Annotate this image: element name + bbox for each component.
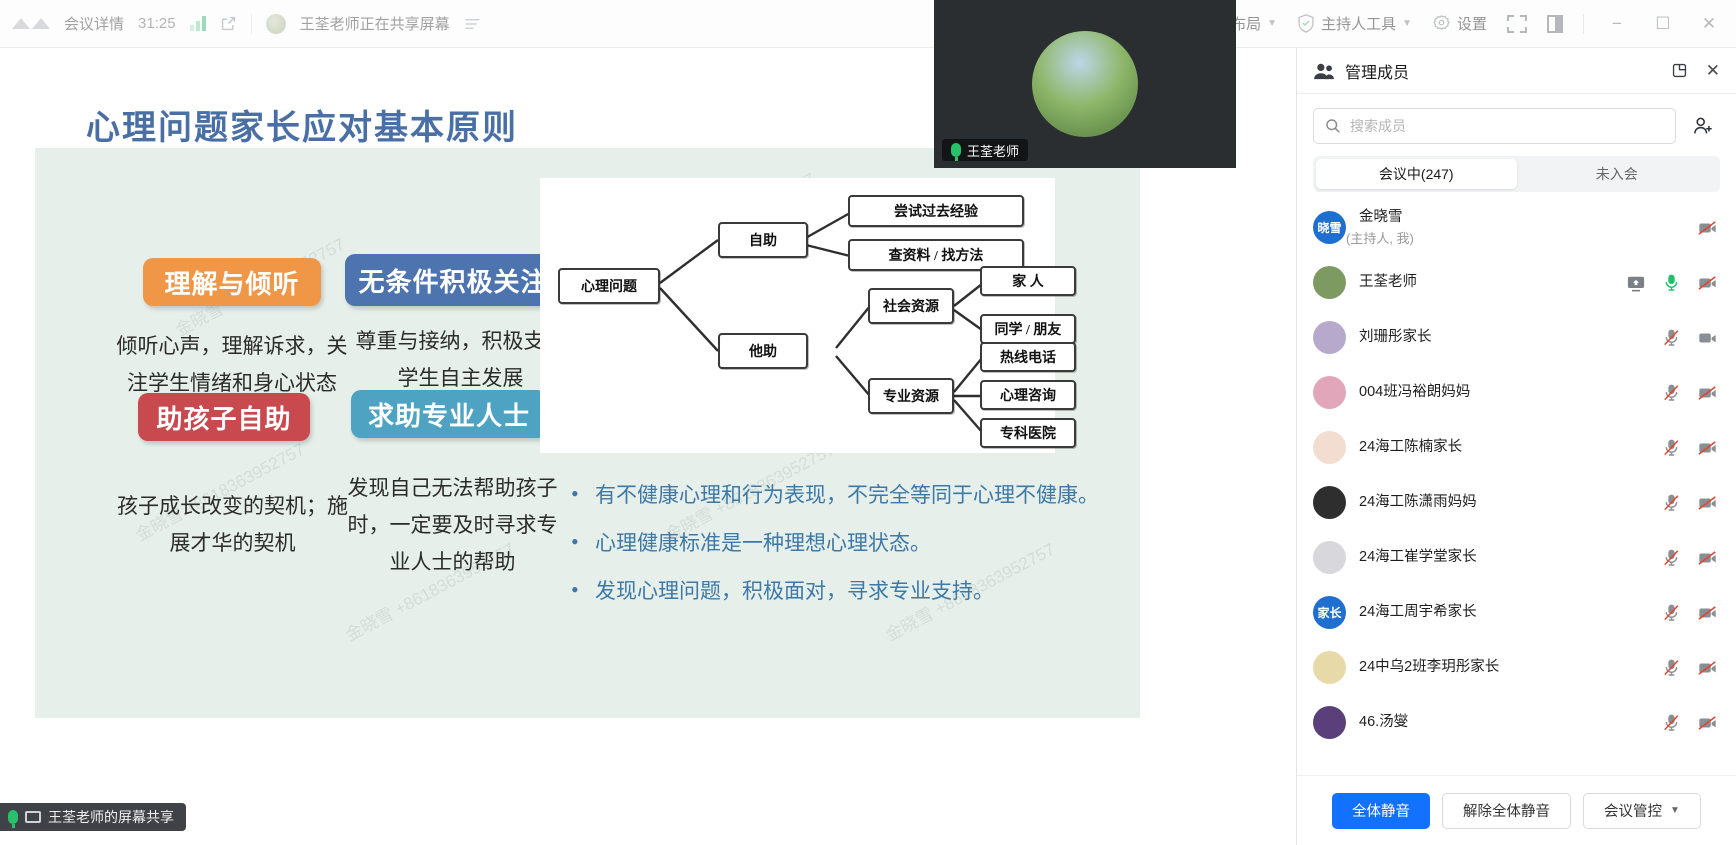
mic-on-icon[interactable] — [1662, 273, 1681, 292]
top-bar-left: 会议详情 31:25 王荃老师正在共享屏幕 — [0, 13, 481, 34]
people-icon — [1313, 62, 1335, 80]
settings-label: 设置 — [1457, 13, 1487, 34]
participant-row[interactable]: 004班冯裕朗妈妈 — [1297, 365, 1736, 420]
list-item: 有不健康心理和行为表现，不完全等同于心理不健康。 — [565, 478, 1125, 512]
search-box[interactable] — [1313, 108, 1676, 144]
participant-info: 24海工陈楠家长 — [1346, 438, 1462, 456]
participant-name: 24海工陈潇雨妈妈 — [1359, 493, 1477, 511]
chevron-down-icon: ▼ — [1402, 18, 1412, 29]
popout-icon[interactable] — [220, 15, 237, 32]
camera-off-icon[interactable] — [1697, 384, 1718, 402]
participant-info: 24海工崔学堂家长 — [1346, 548, 1477, 566]
tab-in-meeting[interactable]: 会议中(247) — [1316, 159, 1517, 189]
avatar: 晓雪 — [1313, 211, 1346, 244]
chevron-down-icon: ▼ — [1670, 805, 1680, 816]
principle-desc-4: 发现自己无法帮助孩子时，一定要及时寻求专业人士的帮助 — [345, 470, 560, 580]
participant-row[interactable]: 晓雪金晓雪(主持人, 我) — [1297, 200, 1736, 255]
mic-off-icon[interactable] — [1662, 438, 1681, 457]
host-tools-menu[interactable]: 主持人工具 ▼ — [1297, 13, 1412, 34]
mic-on-icon — [8, 810, 18, 824]
popout-icon[interactable] — [1671, 62, 1688, 79]
host-tools-label: 主持人工具 — [1321, 13, 1396, 34]
avatar — [1313, 266, 1346, 299]
slide-title: 心理问题家长应对基本原则 — [86, 100, 518, 149]
mindmap-node-family: 家 人 — [980, 266, 1076, 296]
mindmap-node-social-resources: 社会资源 — [868, 288, 954, 324]
search-icon — [1325, 118, 1341, 134]
meeting-window: 会议详情 31:25 王荃老师正在共享屏幕 者布局 ▼ — [0, 0, 1736, 845]
participant-name: 24中乌2班李玥彤家长 — [1359, 658, 1499, 676]
camera-off-icon[interactable] — [1697, 219, 1718, 237]
close-icon[interactable]: ✕ — [1706, 61, 1720, 81]
mindmap-container: 心理问题 自助 他助 尝试过去经验 查资料 / 找方法 社会资源 家 人 同学 … — [540, 178, 1055, 453]
participant-row[interactable]: 24海工崔学堂家长 — [1297, 530, 1736, 585]
mindmap-node-hospital: 专科医院 — [980, 418, 1076, 448]
list-item: 发现心理问题，积极面对，寻求专业支持。 — [565, 574, 1125, 608]
mindmap-node-classmates: 同学 / 朋友 — [980, 314, 1076, 344]
participant-status-icons — [1662, 493, 1718, 512]
participant-row[interactable]: 24海工陈潇雨妈妈 — [1297, 475, 1736, 530]
participant-status-icons — [1662, 713, 1718, 732]
avatar — [1313, 706, 1346, 739]
principle-desc-2: 尊重与接纳，积极支持学生自主发展 — [353, 323, 568, 397]
panel-footer: 全体静音 解除全体静音 会议管控 ▼ — [1297, 775, 1736, 845]
participant-row[interactable]: 王荃老师 — [1297, 255, 1736, 310]
participant-status-icons — [1662, 328, 1718, 347]
shield-icon — [1297, 14, 1315, 33]
avatar — [1313, 431, 1346, 464]
screen-share-icon — [25, 811, 41, 823]
list-item: 心理健康标准是一种理想心理状态。 — [565, 526, 1125, 560]
screen-share-label: 王荃老师的屏幕共享 — [48, 807, 174, 827]
mic-off-icon[interactable] — [1662, 548, 1681, 567]
presenter-video-tile[interactable]: 王荃老师 — [934, 0, 1236, 168]
mic-off-icon[interactable] — [1662, 493, 1681, 512]
principle-pill-2: 无条件积极关注 — [345, 254, 561, 306]
principle-desc-3: 孩子成长改变的契机；施展才华的契机 — [115, 488, 350, 562]
participant-name: 24海工周宇希家长 — [1359, 603, 1477, 621]
app-logo-icon — [12, 18, 50, 29]
meeting-timer: 31:25 — [138, 15, 176, 32]
participant-info: 46.汤燮 — [1346, 713, 1408, 731]
participant-status-icons — [1697, 219, 1718, 237]
participant-name: 24海工陈楠家长 — [1359, 438, 1462, 456]
mindmap-node-professional-resources: 专业资源 — [868, 378, 954, 414]
mindmap-node-self-help: 自助 — [718, 222, 808, 258]
avatar — [1313, 486, 1346, 519]
participant-status-icons — [1662, 438, 1718, 457]
camera-off-icon[interactable] — [1697, 604, 1718, 622]
slide-bullets: 有不健康心理和行为表现，不完全等同于心理不健康。 心理健康标准是一种理想心理状态… — [565, 478, 1125, 622]
fullscreen-icon[interactable] — [1507, 15, 1527, 33]
participant-row[interactable]: 刘珊彤家长 — [1297, 310, 1736, 365]
mic-off-icon[interactable] — [1662, 328, 1681, 347]
mindmap-node-root: 心理问题 — [558, 268, 660, 304]
participant-tabs: 会议中(247) 未入会 — [1313, 156, 1720, 192]
participant-info: 24海工周宇希家长 — [1346, 603, 1477, 621]
participant-list[interactable]: 晓雪金晓雪(主持人, 我)王荃老师刘珊彤家长004班冯裕朗妈妈24海工陈楠家长2… — [1297, 192, 1736, 775]
tab-not-joined[interactable]: 未入会 — [1517, 159, 1718, 189]
divider — [251, 14, 252, 34]
presenter-name: 王荃老师 — [967, 141, 1019, 160]
more-lines-icon[interactable] — [464, 17, 481, 31]
avatar — [1313, 651, 1346, 684]
avatar: 家长 — [1313, 596, 1346, 629]
top-bar-right: 者布局 ▼ 主持人工具 ▼ — [1216, 13, 1736, 34]
participant-name: 24海工崔学堂家长 — [1359, 548, 1477, 566]
participant-row[interactable]: 24中乌2班李玥彤家长 — [1297, 640, 1736, 695]
presenter-nametag: 王荃老师 — [942, 139, 1028, 161]
search-row — [1297, 94, 1736, 154]
close-icon[interactable]: ✕ — [1696, 14, 1722, 34]
mic-off-icon[interactable] — [1662, 713, 1681, 732]
mindmap-node-other-help: 他助 — [718, 333, 808, 369]
mute-all-button[interactable]: 全体静音 — [1332, 793, 1430, 829]
participant-name: 王荃老师 — [1359, 273, 1417, 291]
camera-off-icon[interactable] — [1697, 549, 1718, 567]
participant-name: 004班冯裕朗妈妈 — [1359, 383, 1470, 401]
participant-info: 24中乌2班李玥彤家长 — [1346, 658, 1499, 676]
participant-status-icons — [1662, 383, 1718, 402]
camera-off-icon[interactable] — [1697, 439, 1718, 457]
side-panel-icon[interactable] — [1547, 15, 1563, 33]
sharer-status-label: 王荃老师正在共享屏幕 — [300, 13, 450, 34]
avatar — [1313, 321, 1346, 354]
participant-name: 金晓雪 — [1359, 208, 1414, 226]
top-bar: 会议详情 31:25 王荃老师正在共享屏幕 者布局 ▼ — [0, 0, 1736, 48]
participant-row[interactable]: 46.汤燮 — [1297, 695, 1736, 750]
participant-row[interactable]: 24海工陈楠家长 — [1297, 420, 1736, 475]
camera-off-icon[interactable] — [1697, 274, 1718, 292]
participant-info: 24海工陈潇雨妈妈 — [1346, 493, 1477, 511]
participant-status-icons — [1662, 603, 1718, 622]
divider — [1583, 14, 1584, 34]
meeting-detail-label[interactable]: 会议详情 — [64, 13, 124, 34]
participant-info: 王荃老师 — [1346, 273, 1417, 291]
maximize-icon[interactable]: ☐ — [1650, 14, 1676, 34]
participant-info: 刘珊彤家长 — [1346, 328, 1432, 346]
mindmap-node-past-experience: 尝试过去经验 — [848, 195, 1024, 227]
slide-content: 金晓雪 +8618363952757 金晓雪 +8618363952757 金晓… — [35, 148, 1140, 718]
minimize-icon[interactable]: − — [1604, 14, 1630, 34]
mic-off-icon[interactable] — [1662, 658, 1681, 677]
mindmap-node-counseling: 心理咨询 — [980, 380, 1076, 410]
gear-icon — [1432, 14, 1451, 33]
search-input[interactable] — [1350, 118, 1664, 134]
principle-pill-1: 理解与倾听 — [143, 258, 321, 306]
participant-row[interactable]: 家长24海工周宇希家长 — [1297, 585, 1736, 640]
panel-title: 管理成员 — [1345, 59, 1409, 83]
avatar — [1313, 376, 1346, 409]
camera-off-icon[interactable] — [1697, 494, 1718, 512]
meeting-control-label: 会议管控 — [1604, 800, 1662, 821]
principle-desc-1: 倾听心声，理解诉求，关注学生情绪和身心状态 — [107, 328, 357, 402]
participant-status-icons — [1626, 273, 1718, 292]
participant-name: 刘珊彤家长 — [1359, 328, 1432, 346]
participant-status-icons — [1662, 548, 1718, 567]
unmute-all-button[interactable]: 解除全体静音 — [1442, 793, 1571, 829]
signal-bars-icon[interactable] — [190, 16, 206, 31]
avatar — [1313, 541, 1346, 574]
add-user-button[interactable] — [1686, 109, 1720, 143]
screen-share-icon[interactable] — [1626, 274, 1646, 292]
camera-off-icon[interactable] — [1697, 714, 1718, 732]
presenter-video-image — [1032, 31, 1138, 137]
panel-header: 管理成员 ✕ — [1297, 48, 1736, 94]
principle-pill-4: 求助专业人士 — [351, 390, 547, 438]
camera-on-icon[interactable] — [1697, 329, 1718, 347]
participants-panel: 管理成员 ✕ — [1296, 48, 1736, 845]
camera-off-icon[interactable] — [1697, 659, 1718, 677]
sharer-avatar — [266, 14, 286, 34]
mic-on-icon — [951, 143, 961, 157]
meeting-control-button[interactable]: 会议管控 ▼ — [1583, 793, 1701, 829]
participant-info: 金晓雪(主持人, 我) — [1346, 208, 1414, 247]
settings-menu[interactable]: 设置 — [1432, 13, 1487, 34]
participant-info: 004班冯裕朗妈妈 — [1346, 383, 1470, 401]
screen-share-indicator: 王荃老师的屏幕共享 — [0, 803, 186, 831]
chevron-down-icon: ▼ — [1267, 18, 1277, 29]
participant-status-icons — [1662, 658, 1718, 677]
participant-name: 46.汤燮 — [1359, 713, 1408, 731]
participant-role: (主持人, 我) — [1346, 228, 1414, 247]
mic-off-icon[interactable] — [1662, 603, 1681, 622]
mic-off-icon[interactable] — [1662, 383, 1681, 402]
panel-header-actions: ✕ — [1671, 61, 1720, 81]
mindmap-node-hotline: 热线电话 — [980, 342, 1076, 372]
